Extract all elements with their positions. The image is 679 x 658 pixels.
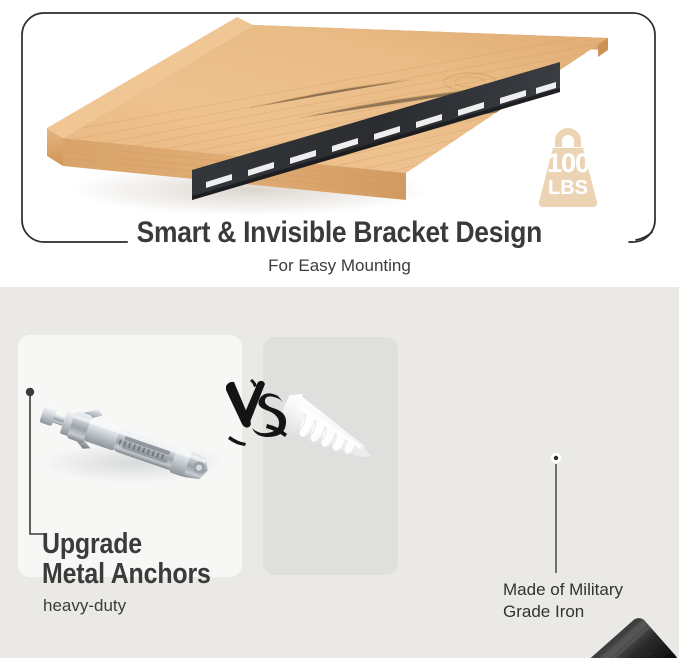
callout-left-line2: Metal Anchors [42,559,211,589]
top-panel: 100 LBS Smart & Invisible Bracket Design… [0,0,679,287]
callout-label-military-iron: Made of Military Grade Iron [503,579,623,624]
callout-right-line2: Grade Iron [503,601,623,623]
callout-label-metal-anchors: Upgrade Metal Anchors heavy-duty [42,529,238,616]
weight-value: 100 [531,150,605,177]
weight-badge-text: 100 LBS [531,150,605,198]
callout-right-line1: Made of Military [503,579,623,601]
weight-capacity-badge: 100 LBS [531,124,605,208]
infographic-canvas: 100 LBS Smart & Invisible Bracket Design… [0,0,679,658]
page-subtitle: For Easy Mounting [268,256,411,275]
callout-ring-right-center [554,456,558,460]
callout-left-line1: Upgrade [42,529,211,559]
weight-unit: LBS [531,178,605,198]
callout-dot-left [26,388,34,396]
callout-left-line3: heavy-duty [43,596,238,616]
subheadline-row: For Easy Mounting [0,256,679,276]
